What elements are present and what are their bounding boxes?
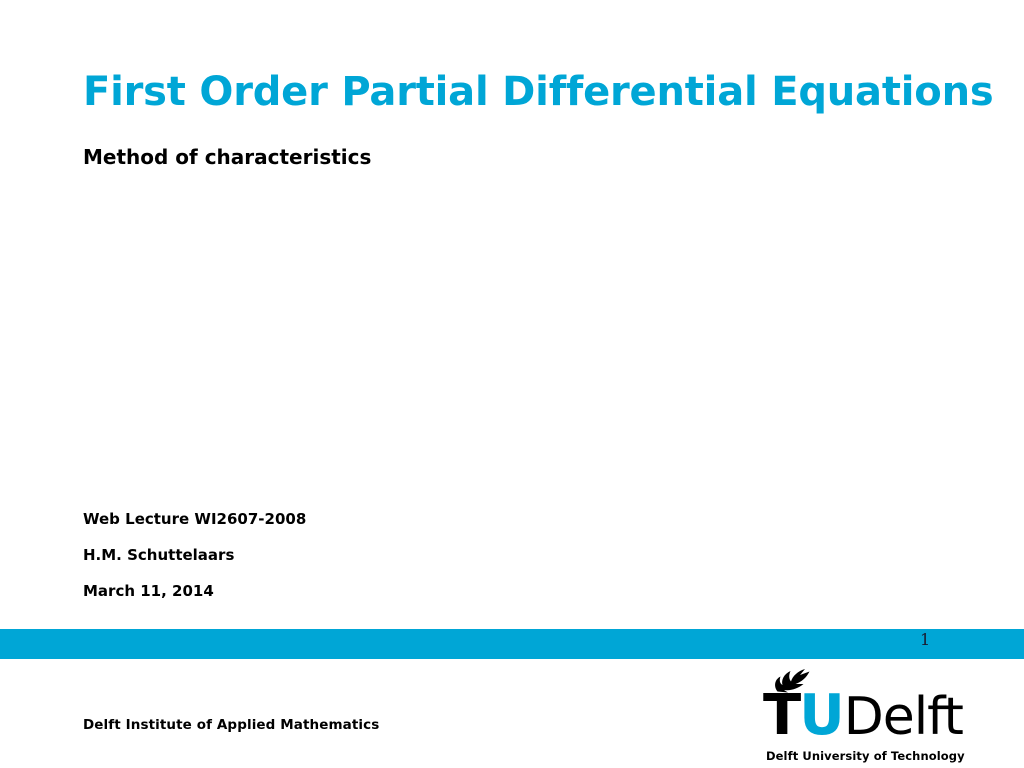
credits-author: H.M. Schuttelaars (83, 548, 583, 563)
credits-date: March 11, 2014 (83, 584, 583, 599)
slide-subtitle: Method of characteristics (83, 145, 903, 169)
footer-accent-bar (0, 629, 1024, 659)
tu-delft-logo: TUDelft Delft University of Technology (763, 666, 963, 762)
page-number: 1 (920, 632, 930, 648)
slide-content-area (83, 175, 943, 495)
logo-word-delft: Delft (844, 687, 963, 747)
credits-block: Web Lecture WI2607-2008 H.M. Schuttelaar… (83, 512, 583, 599)
logo-letter-u: U (799, 683, 843, 748)
logo-wordmark: TUDelft (763, 688, 963, 744)
slide-canvas: First Order Partial Differential Equatio… (0, 0, 1024, 768)
page-title: First Order Partial Differential Equatio… (83, 69, 963, 115)
credits-lecture-code: Web Lecture WI2607-2008 (83, 512, 583, 527)
footer-institute-label: Delft Institute of Applied Mathematics (83, 717, 379, 733)
logo-tagline: Delft University of Technology (766, 749, 965, 763)
logo-letter-t: T (763, 683, 799, 748)
